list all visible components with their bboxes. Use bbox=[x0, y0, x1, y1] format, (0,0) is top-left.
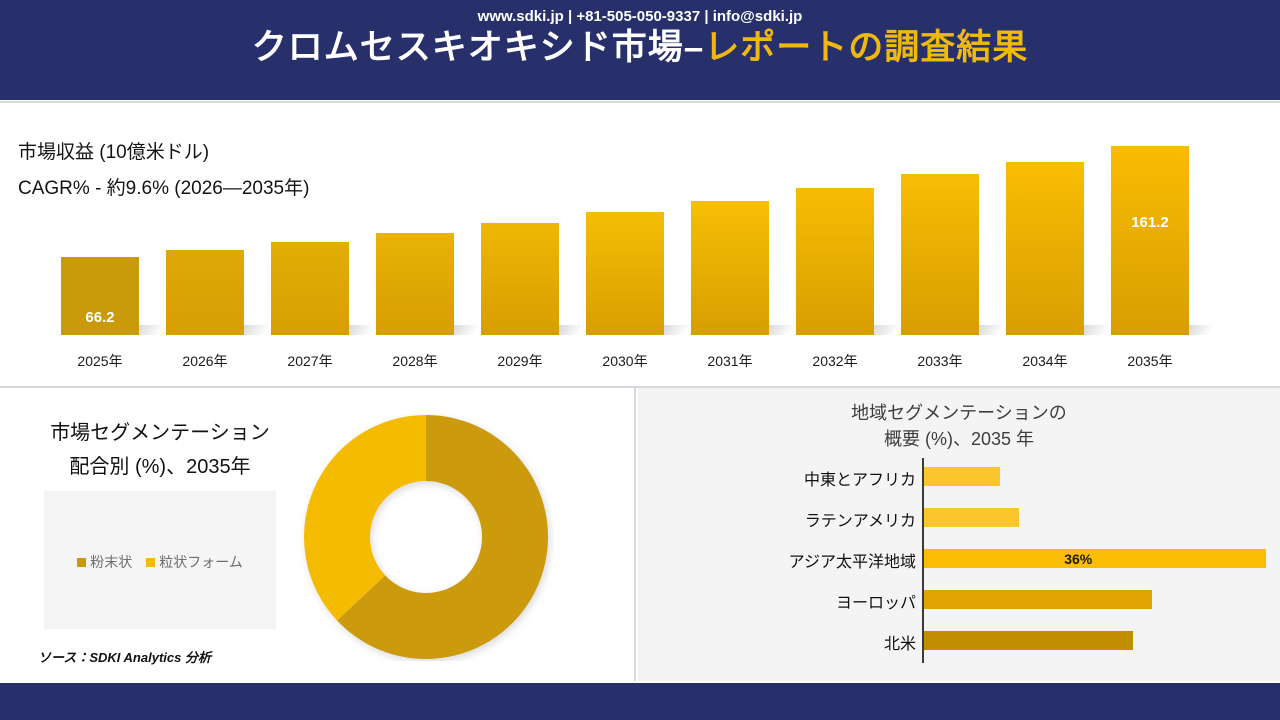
revenue-bar[interactable] bbox=[166, 250, 244, 335]
revenue-bar-category-label: 2030年 bbox=[565, 351, 685, 371]
revenue-bar-category-label: 2033年 bbox=[880, 351, 1000, 371]
donut-chart bbox=[298, 413, 554, 661]
donut-title-line1: 市場セグメンテーション bbox=[20, 416, 300, 450]
revenue-bar[interactable] bbox=[481, 223, 559, 335]
revenue-bar-category-label: 2026年 bbox=[145, 351, 265, 371]
revenue-bar-value: 66.2 bbox=[61, 309, 139, 326]
revenue-bar-value: 161.2 bbox=[1111, 214, 1189, 231]
donut-title-line2: 配合別 (%)、2035年 bbox=[20, 450, 300, 484]
revenue-bar-category-label: 2029年 bbox=[460, 351, 580, 371]
region-category-label: 北米 bbox=[884, 630, 916, 654]
revenue-bar-category-label: 2031年 bbox=[670, 351, 790, 371]
donut-legend-label: 粉末状 bbox=[90, 554, 132, 570]
revenue-bar-category-label: 2025年 bbox=[40, 351, 160, 371]
revenue-bar[interactable] bbox=[376, 233, 454, 335]
revenue-bar[interactable] bbox=[796, 188, 874, 335]
source-note: ソース：SDKI Analytics 分析 bbox=[38, 647, 211, 666]
region-bar-panel: 地域セグメンテーションの 概要 (%)、2035 年 中東とアフリカラテンアメリ… bbox=[638, 388, 1280, 681]
revenue-bars-area: 66.22025年2026年2027年2028年2029年2030年2031年2… bbox=[0, 103, 1280, 386]
footer-band bbox=[0, 683, 1280, 720]
page-title: クロムセスキオキシド市場–レポートの調査結果 bbox=[0, 22, 1280, 74]
region-bar[interactable] bbox=[924, 549, 1266, 568]
region-category-label: ヨーロッパ bbox=[836, 589, 916, 613]
region-bar[interactable] bbox=[924, 508, 1019, 527]
donut-legend: 粉末状粒状フォーム bbox=[44, 491, 276, 629]
page-title-main: クロムセスキオキシド市場 bbox=[252, 28, 684, 67]
region-bar[interactable] bbox=[924, 590, 1152, 609]
revenue-bar[interactable] bbox=[691, 201, 769, 335]
revenue-bar-category-label: 2027年 bbox=[250, 351, 370, 371]
region-title: 地域セグメンテーションの 概要 (%)、2035 年 bbox=[638, 400, 1280, 452]
revenue-bar-category-label: 2034年 bbox=[985, 351, 1105, 371]
revenue-bar-category-label: 2028年 bbox=[355, 351, 475, 371]
region-category-label: ラテンアメリカ bbox=[805, 507, 916, 531]
page-title-separator: – bbox=[684, 28, 704, 67]
region-bar[interactable] bbox=[924, 467, 1000, 486]
segmentation-donut-panel: 市場セグメンテーション 配合別 (%)、2035年 粉末状粒状フォーム ソース：… bbox=[0, 388, 636, 681]
region-title-line1: 地域セグメンテーションの bbox=[638, 400, 1280, 426]
page-title-accent: レポートの調査結果 bbox=[704, 28, 1028, 67]
donut-legend-label: 粒状フォーム bbox=[159, 554, 243, 570]
donut-title: 市場セグメンテーション 配合別 (%)、2035年 bbox=[20, 416, 300, 484]
region-bar[interactable] bbox=[924, 631, 1133, 650]
donut-legend-item[interactable]: 粒状フォーム bbox=[146, 552, 243, 572]
donut-legend-item[interactable]: 粉末状 bbox=[77, 552, 132, 572]
legend-swatch-icon bbox=[146, 558, 155, 567]
revenue-bar[interactable] bbox=[586, 212, 664, 335]
legend-swatch-icon bbox=[77, 558, 86, 567]
revenue-bar-category-label: 2035年 bbox=[1090, 351, 1210, 371]
revenue-bar[interactable] bbox=[901, 174, 979, 335]
region-category-label: 中東とアフリカ bbox=[804, 466, 916, 490]
donut-legend-row: 粉末状粒状フォーム bbox=[44, 552, 276, 572]
donut-svg bbox=[298, 413, 554, 661]
revenue-bar-chart: 市場収益 (10億米ドル) CAGR% - 約9.6% (2026―2035年)… bbox=[0, 103, 1280, 386]
footer-contact: www.sdki.jp | +81-505-050-9337 | info@sd… bbox=[0, 8, 1280, 25]
region-bar-value: 36% bbox=[1064, 551, 1092, 567]
revenue-bar[interactable] bbox=[1006, 162, 1084, 335]
region-plot-area: 中東とアフリカラテンアメリカアジア太平洋地域36%ヨーロッパ北米 bbox=[638, 454, 1280, 669]
region-category-label: アジア太平洋地域 bbox=[789, 548, 916, 572]
region-title-line2: 概要 (%)、2035 年 bbox=[638, 426, 1280, 452]
revenue-bar[interactable] bbox=[271, 242, 349, 335]
revenue-bar[interactable] bbox=[1111, 146, 1189, 335]
donut-slice[interactable] bbox=[304, 415, 426, 621]
revenue-bar-category-label: 2032年 bbox=[775, 351, 895, 371]
infographic-page: クロムセスキオキシド市場–レポートの調査結果 市場収益 (10億米ドル) CAG… bbox=[0, 0, 1280, 720]
